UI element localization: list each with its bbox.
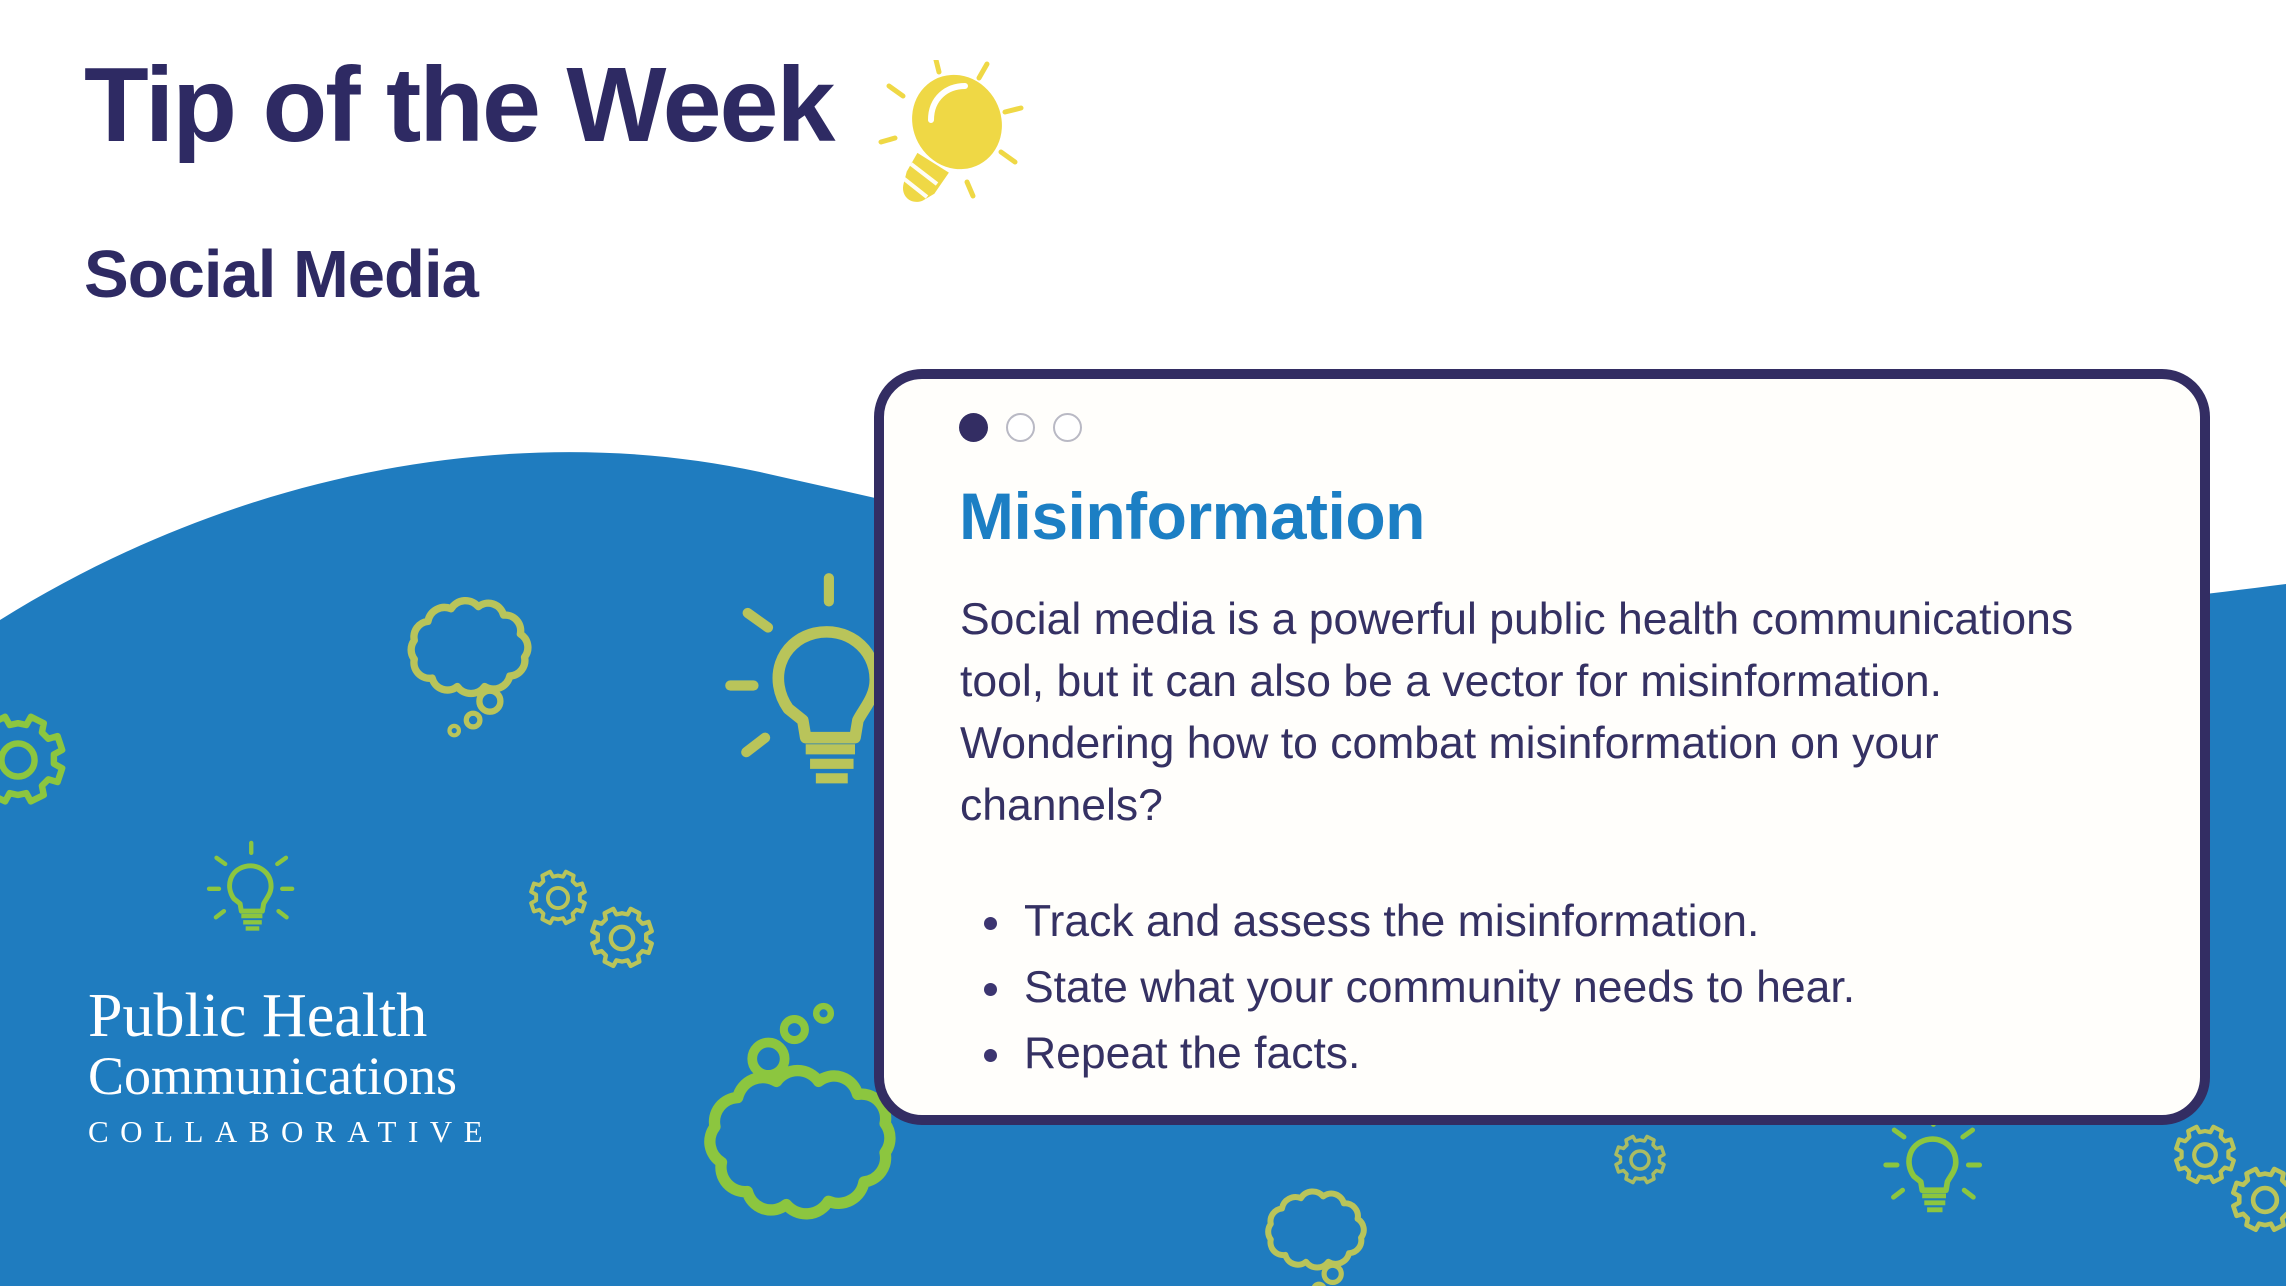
list-item: State what your community needs to hear. xyxy=(1022,957,2144,1019)
carousel-dot-2[interactable] xyxy=(1006,413,1035,442)
logo-line-public-health: Public Health xyxy=(88,985,494,1048)
carousel-dots[interactable] xyxy=(948,413,2144,442)
lightbulb-outline-icon xyxy=(1886,1113,1980,1210)
page-subtitle: Social Media xyxy=(84,241,1025,308)
carousel-dot-1[interactable] xyxy=(959,413,988,442)
tip-bullet-list: Track and assess the misinformation. Sta… xyxy=(948,891,2144,1085)
logo-line-collaborative: COLLABORATIVE xyxy=(88,1114,494,1150)
logo-line-communications: Communications xyxy=(88,1048,494,1105)
list-item: Repeat the facts. xyxy=(1022,1023,2144,1085)
gear-icon xyxy=(0,717,62,802)
thought-bubble-icon xyxy=(411,601,528,736)
card-body-text: Social media is a powerful public health… xyxy=(960,589,2105,836)
carousel-dot-3[interactable] xyxy=(1053,413,1082,442)
thought-bubble-icon xyxy=(1268,1191,1364,1286)
gear-icon xyxy=(1616,1137,1664,1183)
list-item: Track and assess the misinformation. xyxy=(1022,891,2144,953)
page-title: Tip of the Week xyxy=(84,52,833,158)
tip-card: Misinformation Social media is a powerfu… xyxy=(874,369,2210,1125)
tip-card-content: Misinformation Social media is a powerfu… xyxy=(884,379,2200,1085)
lightbulb-icon xyxy=(875,60,1025,215)
gear-pair-icon xyxy=(2176,1127,2286,1230)
gear-pair-icon xyxy=(531,872,652,966)
thought-bubble-large-icon xyxy=(710,1006,890,1214)
header-title-row: Tip of the Week xyxy=(84,52,1025,215)
logo: Public Health Communications COLLABORATI… xyxy=(88,985,494,1150)
header: Tip of the Week xyxy=(0,0,1025,308)
card-title: Misinformation xyxy=(959,483,2144,549)
lightbulb-outline-icon xyxy=(209,843,292,929)
